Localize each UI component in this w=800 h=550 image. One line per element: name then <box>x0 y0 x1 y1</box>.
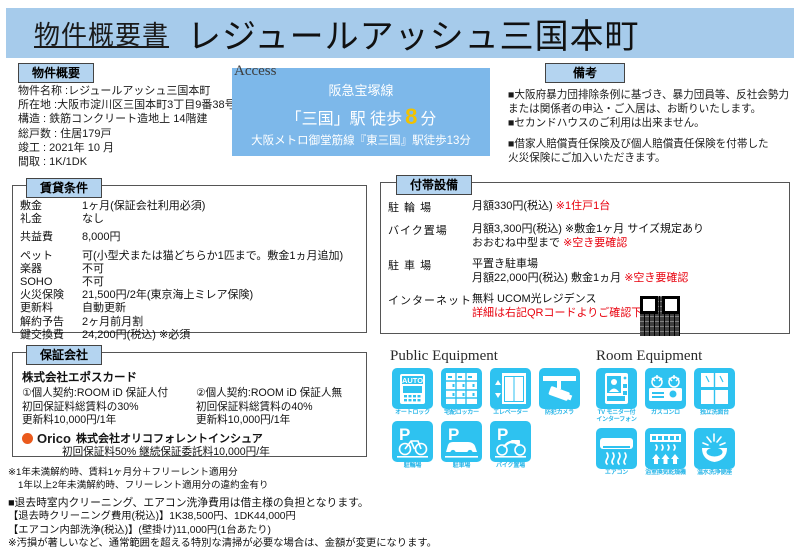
equipment-item: 温水洗浄便座 <box>690 428 739 477</box>
section-badge-rental: 賃貸条件 <box>26 178 102 198</box>
washlet-icon <box>694 428 735 469</box>
plan-line: 初回保証料総賃料の40% <box>196 401 342 415</box>
facility-line: 月額3,300円(税込) ※敷金1ヶ月 サイズ規定あり <box>472 222 783 236</box>
equipment-label: ガスコンロ <box>641 410 690 417</box>
facility-text: おおむね中型まで <box>472 237 563 249</box>
facilities-list: 駐 輪 場 月額330円(税込) ※1住戸1台 バイク置場 月額3,300円(税… <box>388 199 783 327</box>
access-label: Access <box>234 63 276 80</box>
overview-row: 総戸数 : 住居179戸 <box>18 127 238 141</box>
note-line: ※汚損が著しいなど、通常範囲を超える特別な清掃が必要な場合は、金額が変更になりま… <box>8 537 568 550</box>
motorcycle-parking-icon: P <box>490 421 531 462</box>
guarantee-plan-1: ①個人契約:ROOM iD 保証人付 初回保証料総賃料の30% 更新料10,00… <box>22 387 168 428</box>
orico-dot-icon <box>22 433 33 444</box>
equipment-item: P 駐輪場 <box>388 421 437 470</box>
equipment-label: 温水洗浄便座 <box>690 470 739 477</box>
facility-key: インターネット <box>388 292 472 320</box>
equipment-item: 独立洗面台 <box>690 368 739 424</box>
access-station: 「三国」駅 徒歩 <box>286 111 402 128</box>
property-name-title: レジュールアッシュ三国本町 <box>187 9 640 58</box>
remarks-list: ■大阪府暴力団排除条例に基づき、暴力団員等、反社会勢力 または関係者の申込・ご入… <box>508 88 796 165</box>
remark-line: または関係者の申込・ご入居は、お断りいたします。 <box>508 102 796 116</box>
section-badge-facilities: 付帯設備 <box>396 175 472 195</box>
room-equipment-grid: TV モニター付 インターフォン ガスコンロ 独立洗面台 エアコン 浴室換気乾燥 <box>592 368 752 481</box>
facility-line: 無料 UCOM光レジデンス <box>472 292 783 306</box>
public-equipment-title: Public Equipment <box>390 348 498 365</box>
rental-value: 24,200円(税込) ※必須 <box>82 329 343 342</box>
svg-text:P: P <box>497 425 508 444</box>
rental-key: 更新料 <box>20 302 82 315</box>
rental-key: 共益費 <box>20 226 82 244</box>
table-row: 鍵交換費 24,200円(税込) ※必須 <box>20 329 343 342</box>
vanity-sink-icon <box>694 368 735 409</box>
access-walk-time: 「三国」駅 徒歩8分 <box>232 104 490 130</box>
note-line: ■退去時室内クリーニング、エアコン洗浄費用は借主様の負担となります。 <box>8 497 568 510</box>
table-row: 礼金 なし <box>20 213 343 226</box>
facility-text: 無料 UCOM光レジデンス <box>472 293 596 305</box>
overview-row: 間取 : 1K/1DK <box>18 155 238 169</box>
facility-note: ※空き要確認 <box>563 237 627 249</box>
note-line: ※1年未満解約時、賃料1ヶ月分＋フリーレント適用分 <box>8 466 568 479</box>
table-row: 共益費 8,000円 <box>20 226 343 244</box>
table-row: SOHO 不可 <box>20 276 343 289</box>
guarantee-company-name: 株式会社エポスカード <box>22 369 137 385</box>
document-type-label: 物件概要書 <box>34 15 169 52</box>
facility-note: ※空き要確認 <box>624 272 688 284</box>
rental-conditions-table: 敷金 1ヶ月(保証会社利用必須) 礼金 なし 共益費 8,000円 ペット 可(… <box>20 200 343 342</box>
rental-key: 火災保険 <box>20 289 82 302</box>
facility-value: 無料 UCOM光レジデンス 詳細は右記QRコードよりご確認下さい。 <box>472 292 783 320</box>
svg-text:P: P <box>399 425 410 444</box>
rental-value: 8,000円 <box>82 226 343 244</box>
facility-text: 平置き駐車場 <box>472 258 538 270</box>
bath-dryer-icon <box>645 428 686 469</box>
delivery-locker-icon <box>441 368 482 409</box>
public-equipment-grid: AUTO オートロック 宅配ロッカー エレベーター 防犯カメラ P <box>388 368 588 474</box>
access-minutes: 8 <box>402 104 420 129</box>
rental-key: 解約予告 <box>20 316 82 329</box>
remark-line: ■借家人賠償責任保険及び個人賠償責任保険を付帯した <box>508 137 796 151</box>
section-badge-remarks: 備考 <box>545 63 625 83</box>
facility-key: 駐 車 場 <box>388 257 472 285</box>
overview-row: 竣工 : 2021年 10 月 <box>18 141 238 155</box>
equipment-label: エアコン <box>592 470 641 477</box>
overview-row: 所在地 :大阪市淀川区三国本町3丁目9番38号 <box>18 98 238 112</box>
plan-line: 更新料10,000円/1年 <box>196 414 342 428</box>
access-minutes-unit: 分 <box>420 111 436 128</box>
section-badge-overview: 物件概要 <box>18 63 94 83</box>
document-header: 物件概要書 レジュールアッシュ三国本町 <box>6 8 794 58</box>
access-secondary-station: 大阪メトロ御堂筋線『東三国』駅徒歩13分 <box>232 132 490 148</box>
table-row: 解約予告 2ヶ月前月割 <box>20 316 343 329</box>
plan-line: 初回保証料総賃料の30% <box>22 401 168 415</box>
facility-text: 月額330円(税込) <box>472 200 556 212</box>
rental-key: 楽器 <box>20 263 82 276</box>
equipment-item: 防犯カメラ <box>535 368 584 417</box>
equipment-label: 防犯カメラ <box>535 410 584 417</box>
rental-value: 可(小型犬または猫どちらか1匹まで。敷金1ヵ月追加) <box>82 245 343 263</box>
facility-value: 月額330円(税込) ※1住戸1台 <box>472 199 783 215</box>
equipment-label: TV モニター付 インターフォン <box>592 410 641 424</box>
facility-row-bicycle: 駐 輪 場 月額330円(税込) ※1住戸1台 <box>388 199 783 215</box>
rental-value: 自動更新 <box>82 302 343 315</box>
equipment-item: TV モニター付 インターフォン <box>592 368 641 424</box>
rental-key: 礼金 <box>20 213 82 226</box>
equipment-item: エレベーター <box>486 368 535 417</box>
remark-line: 火災保険にご加入いただきます。 <box>508 151 796 165</box>
facility-text: 月額3,300円(税込) ※敷金1ヶ月 サイズ規定あり <box>472 223 704 235</box>
auto-lock-icon: AUTO <box>392 368 433 409</box>
facility-line: 月額22,000円(税込) 敷金1ヵ月 ※空き要確認 <box>472 271 783 285</box>
facility-key: 駐 輪 場 <box>388 199 472 215</box>
overview-row: 物件名称 :レジュールアッシュ三国本町 <box>18 84 238 98</box>
equipment-label: 浴室換気乾燥機 <box>641 470 690 477</box>
table-row: 更新料 自動更新 <box>20 302 343 315</box>
facility-line: おおむね中型まで ※空き要確認 <box>472 236 783 250</box>
rental-value: 2ヶ月前月割 <box>82 316 343 329</box>
table-row: 火災保険 21,500円/2年(東京海上ミレア保険) <box>20 289 343 302</box>
overview-list: 物件名称 :レジュールアッシュ三国本町 所在地 :大阪市淀川区三国本町3丁目9番… <box>18 84 238 169</box>
facility-key: バイク置場 <box>388 222 472 250</box>
equipment-item: AUTO オートロック <box>388 368 437 417</box>
section-badge-guarantee: 保証会社 <box>26 345 102 365</box>
facility-row-internet: インターネット 無料 UCOM光レジデンス 詳細は右記QRコードよりご確認下さい… <box>388 292 783 320</box>
facility-text: 月額22,000円(税込) 敷金1ヵ月 <box>472 272 624 284</box>
tv-intercom-icon <box>596 368 637 409</box>
plan-line: ①個人契約:ROOM iD 保証人付 <box>22 387 168 401</box>
table-row: 楽器 不可 <box>20 263 343 276</box>
facility-value: 平置き駐車場 月額22,000円(税込) 敷金1ヵ月 ※空き要確認 <box>472 257 783 285</box>
facility-line: 詳細は右記QRコードよりご確認下さい。 <box>472 306 783 320</box>
equipment-item: 浴室換気乾燥機 <box>641 428 690 477</box>
overview-row: 構造 : 鉄筋コンクリート造地上 14階建 <box>18 112 238 126</box>
bottom-notes: ※1年未満解約時、賃料1ヶ月分＋フリーレント適用分 1年以上2年未満解約時、フリ… <box>8 466 568 550</box>
orico-fee: 初回保証料50% 継続保証委託料10,000円/年 <box>62 444 270 459</box>
note-line: 【退去時クリーニング費用(税込)】1K38,500円、1DK44,000円 <box>8 510 568 523</box>
note-line: 1年以上2年未満解約時、フリーレント適用分の違約金有り <box>8 479 568 492</box>
equipment-item: ガスコンロ <box>641 368 690 424</box>
rental-value: なし <box>82 213 343 226</box>
rental-key: 鍵交換費 <box>20 329 82 342</box>
table-row: 敷金 1ヶ月(保証会社利用必須) <box>20 200 343 213</box>
facility-line: 月額330円(税込) ※1住戸1台 <box>472 199 783 213</box>
qr-code <box>640 296 680 336</box>
car-parking-icon: P <box>441 421 482 462</box>
equipment-item: 宅配ロッカー <box>437 368 486 417</box>
facility-row-parking: 駐 車 場 平置き駐車場 月額22,000円(税込) 敷金1ヵ月 ※空き要確認 <box>388 257 783 285</box>
bicycle-parking-icon: P <box>392 421 433 462</box>
facility-value: 月額3,300円(税込) ※敷金1ヶ月 サイズ規定あり おおむね中型まで ※空き… <box>472 222 783 250</box>
equipment-item: P バイク置場 <box>486 421 535 470</box>
equipment-label: エレベーター <box>486 410 535 417</box>
rental-value: 1ヶ月(保証会社利用必須) <box>82 200 343 213</box>
security-camera-icon <box>539 368 580 409</box>
elevator-icon <box>490 368 531 409</box>
facility-note: ※1住戸1台 <box>556 200 610 212</box>
svg-text:P: P <box>448 425 459 444</box>
equipment-item: エアコン <box>592 428 641 477</box>
facility-row-motorcycle: バイク置場 月額3,300円(税込) ※敷金1ヶ月 サイズ規定あり おおむね中型… <box>388 222 783 250</box>
gas-stove-icon <box>645 368 686 409</box>
guarantee-plan-2: ②個人契約:ROOM iD 保証人無 初回保証料総賃料の40% 更新料10,00… <box>196 387 342 428</box>
equipment-label: 独立洗面台 <box>690 410 739 417</box>
rental-key: 敷金 <box>20 200 82 213</box>
rental-value: 不可 <box>82 263 343 276</box>
access-train-line: 阪急宝塚線 <box>232 80 490 99</box>
remark-line: ■大阪府暴力団排除条例に基づき、暴力団員等、反社会勢力 <box>508 88 796 102</box>
rental-key: SOHO <box>20 276 82 289</box>
plan-line: ②個人契約:ROOM iD 保証人無 <box>196 387 342 401</box>
equipment-label: 宅配ロッカー <box>437 410 486 417</box>
table-row: ペット 可(小型犬または猫どちらか1匹まで。敷金1ヵ月追加) <box>20 245 343 263</box>
equipment-item: P 駐車場 <box>437 421 486 470</box>
note-line: 【エアコン内部洗浄(税込)】(壁掛け)11,000円(1台あたり) <box>8 524 568 537</box>
rental-value: 21,500円/2年(東京海上ミレア保険) <box>82 289 343 302</box>
remark-line: ■セカンドハウスのご利用は出来ません。 <box>508 116 796 130</box>
facility-line: 平置き駐車場 <box>472 257 783 271</box>
equipment-label: オートロック <box>388 410 437 417</box>
air-conditioner-icon <box>596 428 637 469</box>
rental-value: 不可 <box>82 276 343 289</box>
property-summary-document: 物件概要書 レジュールアッシュ三国本町 物件概要 物件名称 :レジュールアッシュ… <box>0 0 800 550</box>
room-equipment-title: Room Equipment <box>596 348 702 365</box>
rental-key: ペット <box>20 245 82 263</box>
plan-line: 更新料10,000円/1年 <box>22 414 168 428</box>
svg-text:AUTO: AUTO <box>402 376 423 385</box>
